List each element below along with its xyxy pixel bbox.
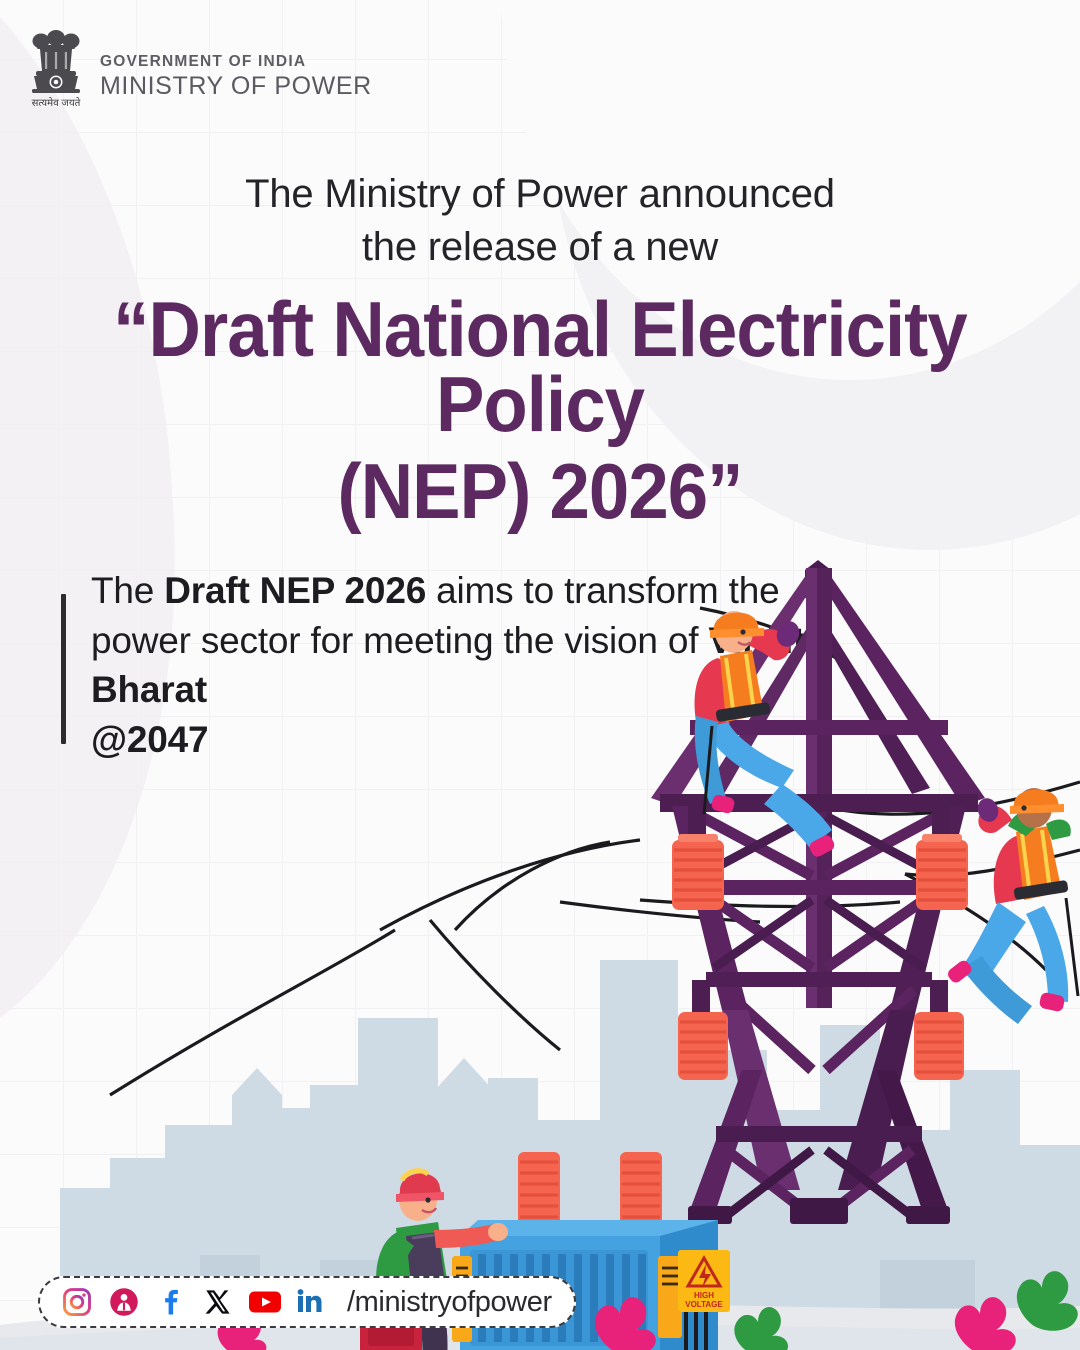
poster-canvas: सत्यमेव जयते GOVERNMENT OF INDIA MINISTR… [0,0,1080,1350]
page-title: “Draft National Electricity Policy (NEP)… [38,292,1042,529]
emblem-motto: सत्यमेव जयते [32,97,81,109]
headline-line-1: “Draft National Electricity Policy [113,285,967,448]
instagram-icon[interactable] [60,1285,94,1319]
government-of-india-label: GOVERNMENT OF INDIA [100,54,372,70]
linkedin-icon[interactable] [295,1285,329,1319]
intro-line-2: the release of a new [0,221,1080,274]
power-infrastructure-illustration: HIGH VOLTAGE [0,550,1080,1350]
koo-icon[interactable] [107,1285,141,1319]
youtube-icon[interactable] [248,1285,282,1319]
ministry-of-power-label: MINISTRY OF POWER [100,72,372,100]
ministry-logo-text: GOVERNMENT OF INDIA MINISTRY OF POWER [100,48,372,99]
high-voltage-line-1: HIGH [694,1291,714,1300]
ashoka-lion-capital-emblem: सत्यमेव जयते [24,26,88,122]
intro-line-1: The Ministry of Power announced [245,172,835,216]
ministry-logo: सत्यमेव जयते GOVERNMENT OF INDIA MINISTR… [24,26,372,122]
social-handle-bar[interactable]: /ministryofpower [38,1276,576,1328]
x-twitter-icon[interactable] [201,1285,235,1319]
intro-text: The Ministry of Power announced the rele… [0,168,1080,274]
facebook-icon[interactable] [154,1285,188,1319]
social-handle-text: /ministryofpower [347,1286,552,1319]
headline-line-2: (NEP) 2026” [38,454,1042,529]
high-voltage-line-2: VOLTAGE [685,1300,723,1309]
